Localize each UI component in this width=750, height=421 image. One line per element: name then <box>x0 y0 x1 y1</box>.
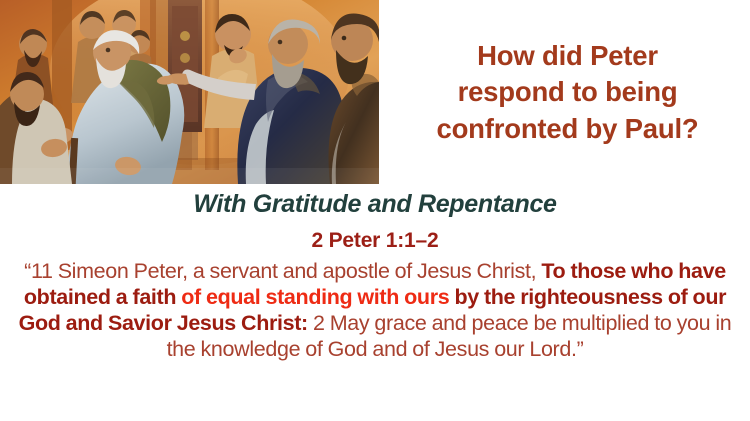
scene-painting <box>0 0 379 184</box>
page-title: How did Peter respond to being confronte… <box>436 38 698 147</box>
top-row: How did Peter respond to being confronte… <box>0 0 750 185</box>
subtitle: With Gratitude and Repentance <box>0 190 750 219</box>
heading-line-3: confronted by Paul? <box>436 111 698 147</box>
heading-line-2: respond to being <box>436 74 698 110</box>
slide-root: How did Peter respond to being confronte… <box>0 0 750 421</box>
scripture-body: “11 Simeon Peter, a servant and apostle … <box>12 258 738 362</box>
painting-artwork <box>0 0 379 184</box>
scripture-reference: 2 Peter 1:1–2 <box>0 229 750 253</box>
heading-block: How did Peter respond to being confronte… <box>385 0 750 185</box>
scripture-segment-accent: of equal standing with ours <box>181 285 449 309</box>
heading-line-1: How did Peter <box>436 38 698 74</box>
scripture-segment: “11 Simeon Peter, a servant and apostle … <box>24 259 541 283</box>
